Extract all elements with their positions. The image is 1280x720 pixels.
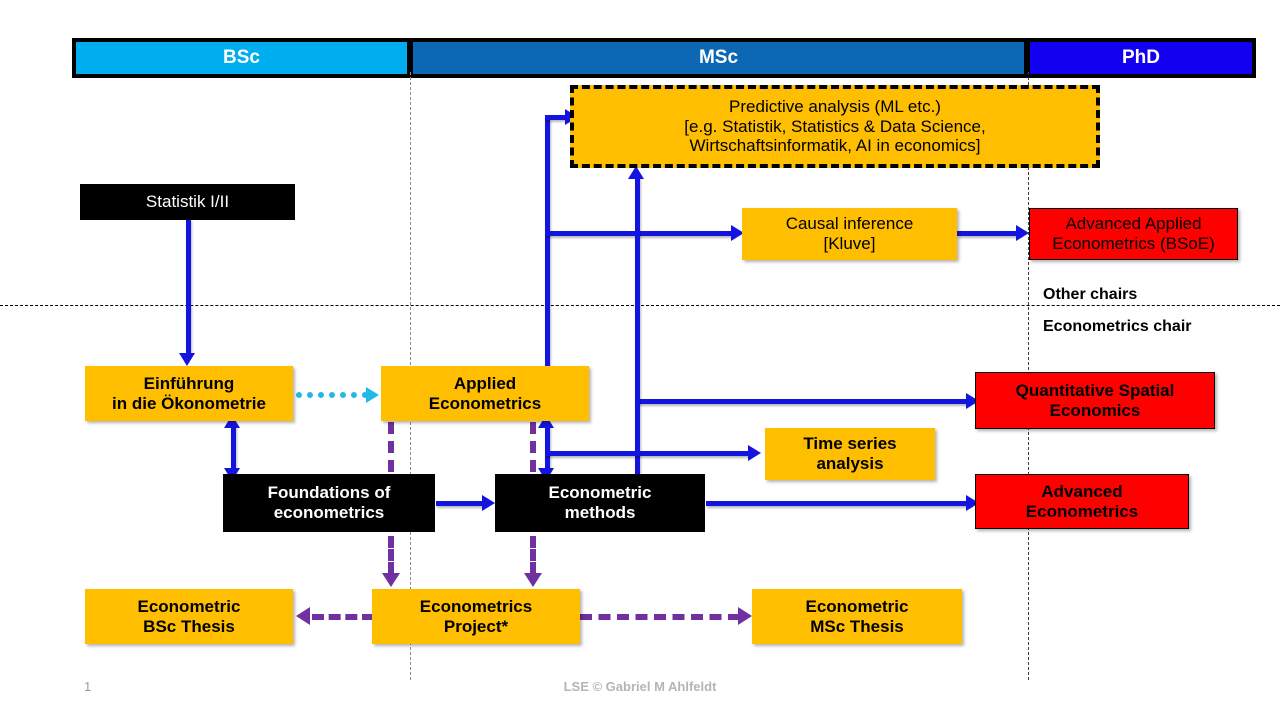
predictive-line-2: [e.g. Statistik, Statistics & Data Scien… [574,117,1096,137]
node-econometrics-project[interactable]: Econometrics Project* [372,589,580,644]
node-foundations-text: Foundations of econometrics [228,483,430,522]
arrowhead-down-to-project-left [382,573,400,587]
connector-methods-to-timeseries [545,451,751,456]
node-predictive-analysis[interactable]: Predictive analysis (ML etc.) [e.g. Stat… [570,85,1100,168]
connector-applied-to-causal [545,231,735,236]
node-advanced-applied-text: Advanced Applied Econometrics (BSoE) [1030,214,1237,253]
label-econometrics-chair: Econometrics chair [1043,318,1192,336]
node-einfuehrung-text: Einführung in die Ökonometrie [85,374,293,413]
node-causal-inference[interactable]: Causal inference [Kluve] [742,208,957,260]
band-msc[interactable]: MSc [413,42,1024,74]
project-line-2: Project* [372,617,580,637]
quantspatial-line-2: Economics [976,401,1214,421]
mscthesis-line-2: MSc Thesis [752,617,962,637]
node-advanced-applied-econometrics[interactable]: Advanced Applied Econometrics (BSoE) [1029,208,1238,260]
arrowhead-methods-to-timeseries [748,445,761,461]
node-applied-econometrics-text: Applied Econometrics [381,374,589,413]
node-foundations-of-econometrics[interactable]: Foundations of econometrics [223,474,435,532]
slide-canvas: BSc MSc PhD Other chairs Econometrics ch… [0,0,1280,720]
predictive-line-3: Wirtschaftsinformatik, AI in economics] [574,136,1096,156]
node-econometric-msc-thesis[interactable]: Econometric MSc Thesis [752,589,962,644]
arrowhead-project-to-bsc-thesis [296,607,310,625]
project-line-1: Econometrics [372,597,580,617]
timeseries-line-1: Time series [765,434,935,454]
node-time-series-text: Time series analysis [765,434,935,473]
node-applied-econometrics[interactable]: Applied Econometrics [381,366,589,421]
node-advanced-econometrics-text: Advanced Econometrics [976,482,1188,521]
foundations-line-1: Foundations of [228,483,430,503]
divider-horizontal-chairs [0,305,1280,306]
node-project-text: Econometrics Project* [372,597,580,636]
methods-line-1: Econometric [500,483,700,503]
applied-line-2: Econometrics [381,394,589,414]
connector-methods-riser [635,176,640,476]
econometrics-chair-text: Econometrics chair [1043,318,1192,335]
connector-causal-to-advappl [957,231,1021,236]
node-bsc-thesis-text: Econometric BSc Thesis [85,597,293,636]
other-chairs-text: Other chairs [1043,286,1137,303]
band-phd-label: PhD [1030,47,1252,69]
advappl-line-1: Advanced Applied [1030,214,1237,234]
node-einfuehrung-oekonometrie[interactable]: Einführung in die Ökonometrie [85,366,293,421]
arrowhead-project-to-msc-thesis [738,607,752,625]
band-bsc-label: BSc [76,47,407,69]
connector-applied-down-right [530,422,536,472]
connector-applied-down-left [388,422,394,472]
connector-applied-to-quantspatial [635,399,969,404]
foundations-line-2: econometrics [228,503,430,523]
advecon-line-1: Advanced [976,482,1188,502]
connector-statistik-to-einfuehrung [186,219,191,353]
advecon-line-2: Econometrics [976,502,1188,522]
advappl-line-2: Econometrics (BSoE) [1030,234,1237,254]
connector-foundations-to-methods [436,501,484,506]
predictive-line-1: Predictive analysis (ML etc.) [574,97,1096,117]
connector-methods-to-advanced [706,501,971,506]
connector-applied-methods [545,424,550,472]
node-econometric-methods[interactable]: Econometric methods [495,474,705,532]
node-predictive-analysis-text: Predictive analysis (ML etc.) [e.g. Stat… [574,97,1096,156]
bscthesis-line-2: BSc Thesis [85,617,293,637]
node-statistik-text: Statistik I/II [85,192,290,212]
node-msc-thesis-text: Econometric MSc Thesis [752,597,962,636]
bscthesis-line-1: Econometric [85,597,293,617]
band-bsc[interactable]: BSc [76,42,407,74]
arrowhead-causal-to-advappl [1016,225,1029,241]
arrowhead-foundations-to-methods [482,495,495,511]
node-quantitative-spatial-economics[interactable]: Quantitative Spatial Economics [975,372,1215,429]
node-econometric-bsc-thesis[interactable]: Econometric BSc Thesis [85,589,293,644]
causal-line-2: [Kluve] [742,234,957,254]
connector-foundations-down-left [388,536,394,574]
methods-line-2: methods [500,503,700,523]
node-statistik[interactable]: Statistik I/II [80,184,295,220]
connector-project-to-bsc-thesis [312,614,374,620]
einfuehrung-line-2: in die Ökonometrie [85,394,293,414]
node-causal-inference-text: Causal inference [Kluve] [742,214,957,253]
applied-line-1: Applied [381,374,589,394]
node-econometric-methods-text: Econometric methods [500,483,700,522]
band-msc-label: MSc [413,47,1024,69]
node-quantitative-spatial-text: Quantitative Spatial Economics [976,381,1214,420]
arrowhead-einfuehrung-to-applied [366,387,379,403]
connector-applied-riser [545,118,550,368]
connector-einfuehrung-foundations [231,424,236,472]
arrowhead-statistik-to-einfuehrung [179,353,195,366]
causal-line-1: Causal inference [742,214,957,234]
connector-project-to-msc-thesis [580,614,740,620]
node-time-series-analysis[interactable]: Time series analysis [765,428,935,480]
einfuehrung-line-1: Einführung [85,374,293,394]
timeseries-line-2: analysis [765,454,935,474]
label-other-chairs: Other chairs [1043,286,1137,304]
node-advanced-econometrics[interactable]: Advanced Econometrics [975,474,1189,529]
footer-credit: LSE © Gabriel M Ahlfeldt [0,679,1280,694]
band-phd[interactable]: PhD [1030,42,1252,74]
arrowhead-down-to-project-right [524,573,542,587]
quantspatial-line-1: Quantitative Spatial [976,381,1214,401]
connector-methods-down-right [530,536,536,574]
connector-einfuehrung-to-applied [296,392,368,398]
mscthesis-line-1: Econometric [752,597,962,617]
